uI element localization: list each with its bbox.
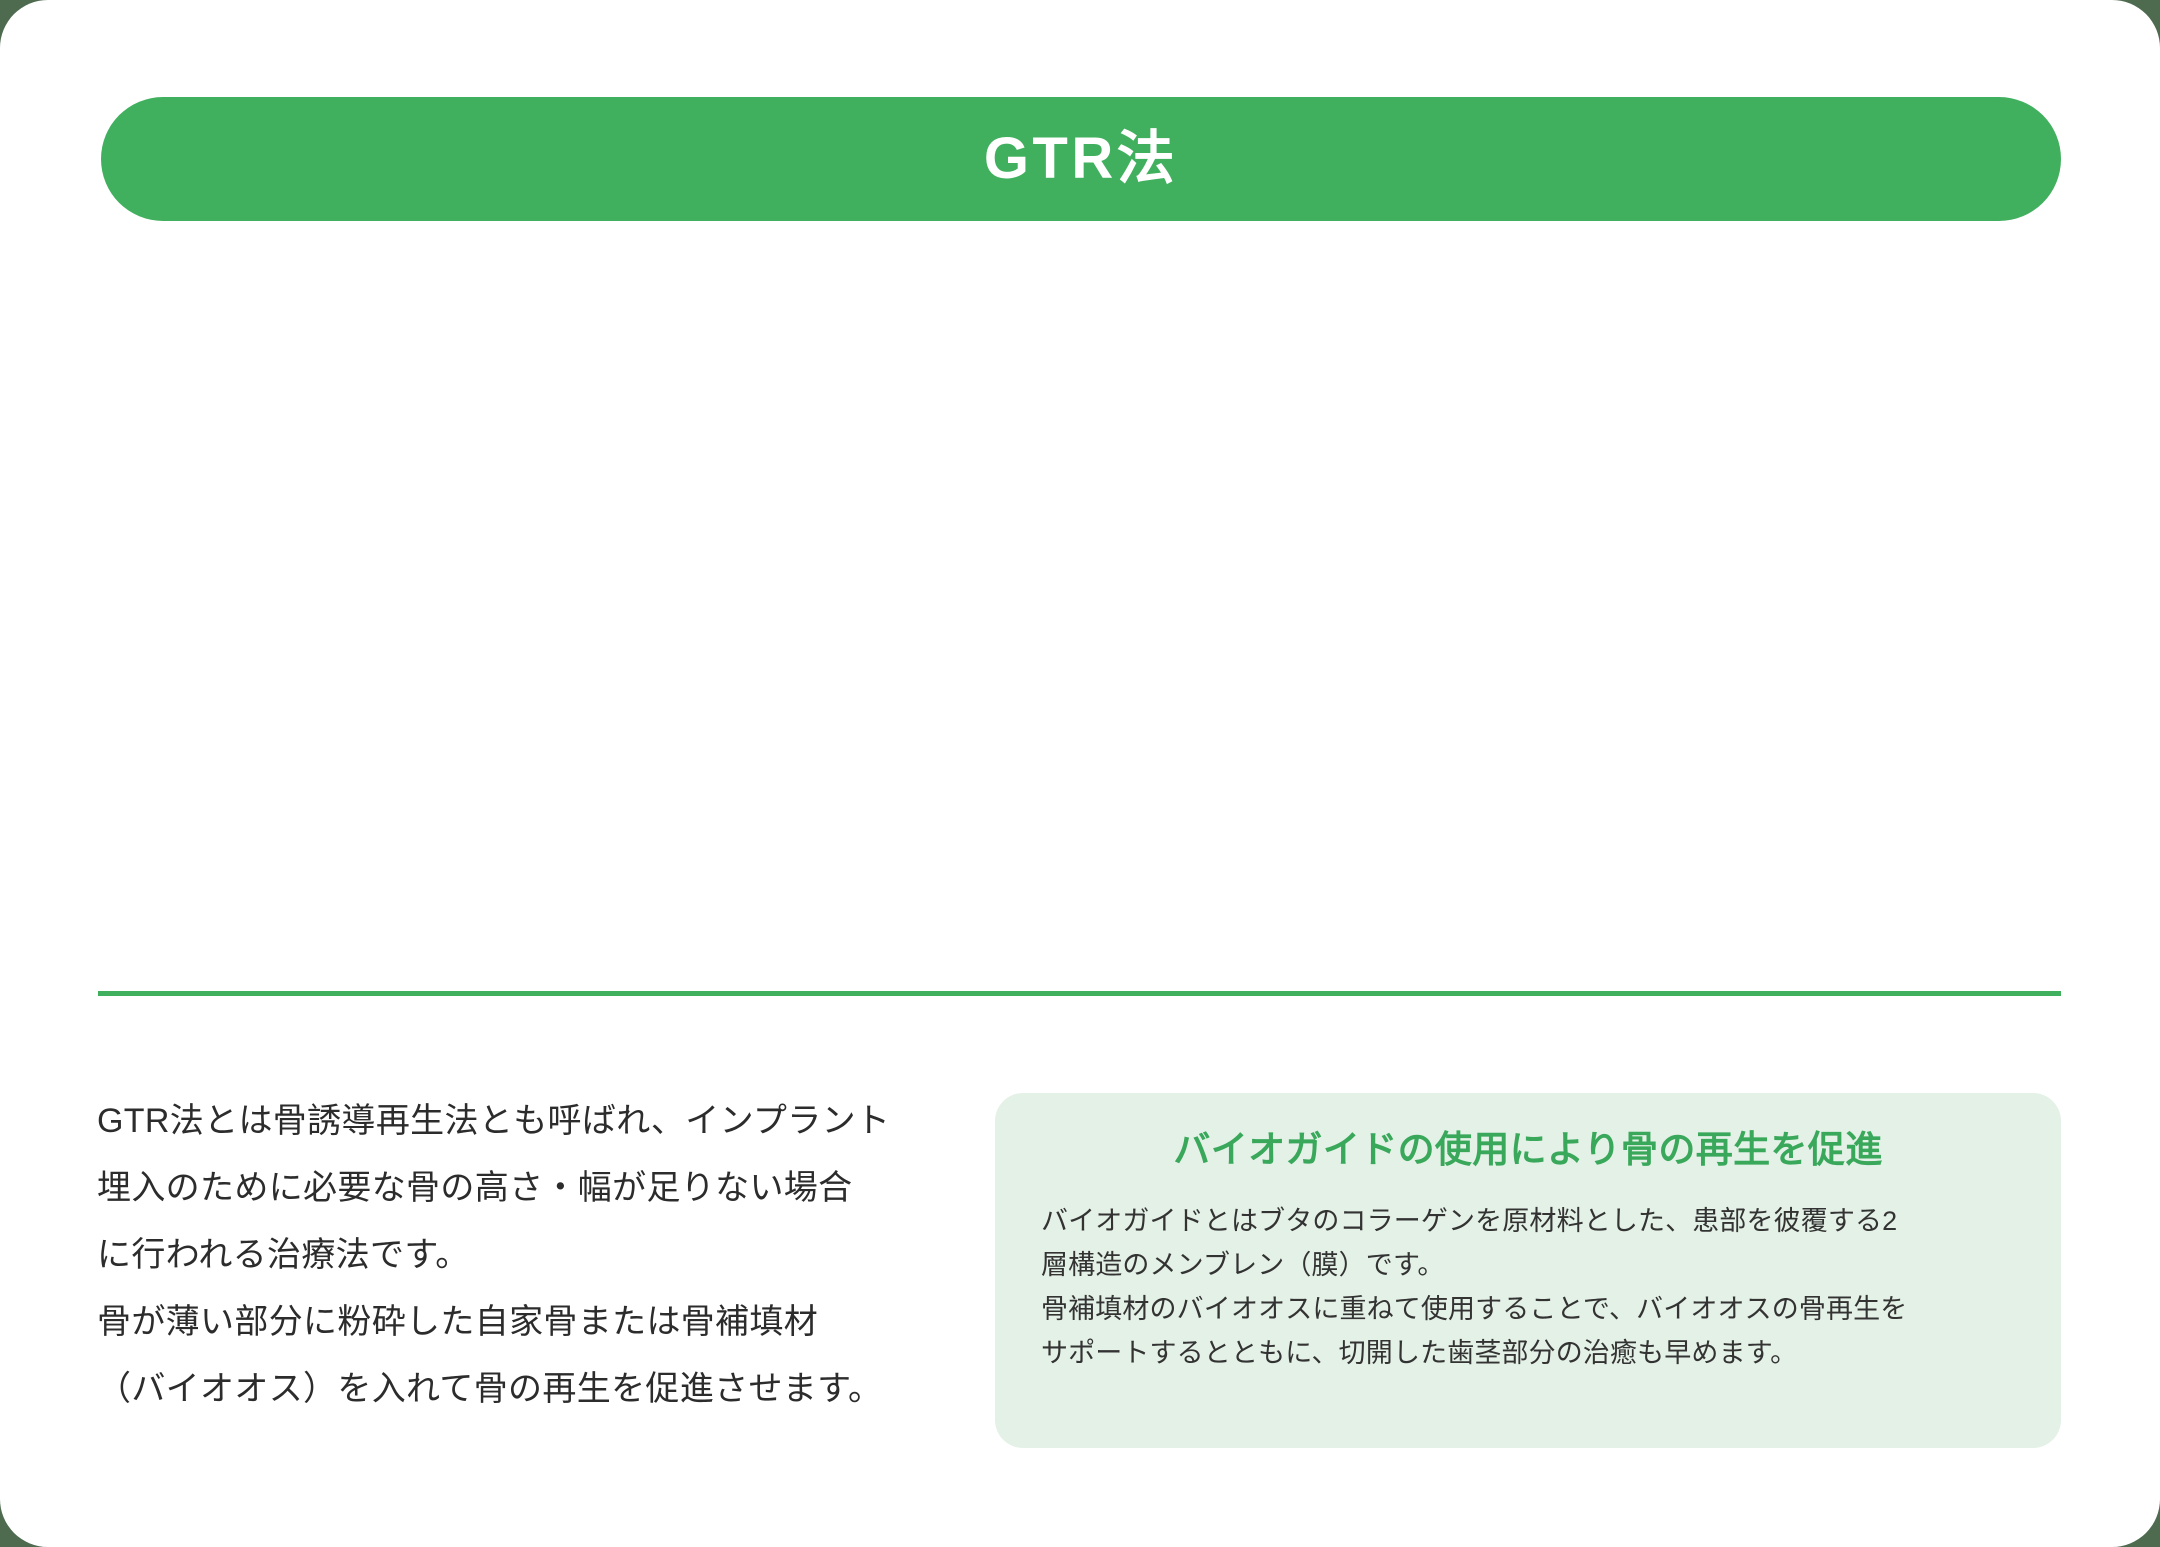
page-card: GTR法 GTR法とは骨誘導再生法とも呼ばれ、インプラント 埋入のために必要な骨…	[0, 0, 2160, 1547]
header-pill: GTR法	[101, 97, 2061, 221]
callout-heading: バイオガイドの使用により骨の再生を促進	[1041, 1127, 2015, 1173]
content-row: GTR法とは骨誘導再生法とも呼ばれ、インプラント 埋入のために必要な骨の高さ・幅…	[0, 1060, 2160, 1480]
callout-line: 骨補填材のバイオオスに重ねて使用することで、バイオオスの骨再生を	[1041, 1287, 2015, 1331]
callout-body: バイオガイドとはブタのコラーゲンを原材料とした、患部を彼覆する2 層構造のメンブ…	[1041, 1199, 2015, 1375]
page-title: GTR法	[984, 130, 1178, 188]
callout-line: サポートするとともに、切開した歯茎部分の治癒も早めます。	[1041, 1331, 2015, 1375]
description-line: GTR法とは骨誘導再生法とも呼ばれ、インプラント	[97, 1088, 927, 1155]
callout-line: バイオガイドとはブタのコラーゲンを原材料とした、患部を彼覆する2	[1041, 1199, 2015, 1243]
description-line: に行われる治療法です。	[97, 1222, 927, 1289]
description-block: GTR法とは骨誘導再生法とも呼ばれ、インプラント 埋入のために必要な骨の高さ・幅…	[97, 1088, 927, 1423]
description-line: 骨が薄い部分に粉砕した自家骨または骨補填材	[97, 1289, 927, 1356]
callout-card: バイオガイドの使用により骨の再生を促進 バイオガイドとはブタのコラーゲンを原材料…	[995, 1093, 2061, 1448]
illustration-area	[101, 250, 2061, 980]
description-line: （バイオオス）を入れて骨の再生を促進させます。	[97, 1356, 927, 1423]
section-divider	[98, 991, 2061, 996]
callout-line: 層構造のメンブレン（膜）です。	[1041, 1243, 2015, 1287]
description-line: 埋入のために必要な骨の高さ・幅が足りない場合	[97, 1155, 927, 1222]
